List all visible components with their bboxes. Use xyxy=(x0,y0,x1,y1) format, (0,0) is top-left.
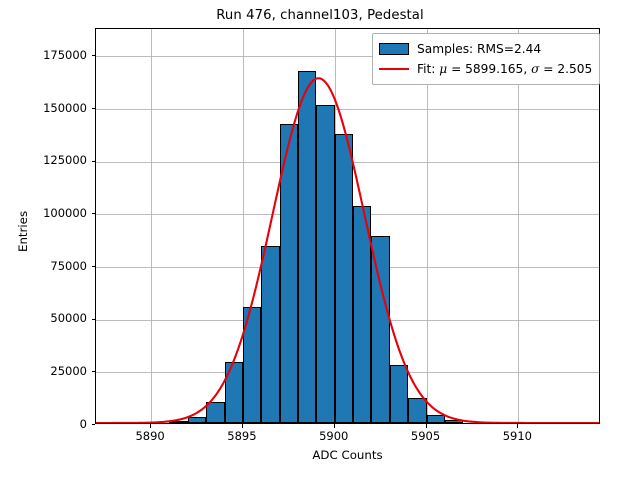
legend-mu-value: = 5899.165, xyxy=(447,62,531,76)
legend-mu-symbol: μ xyxy=(439,62,447,76)
legend-fit-prefix: Fit: xyxy=(417,62,439,76)
y-tick-label: 50000 xyxy=(15,311,87,325)
y-tick-label: 25000 xyxy=(15,364,87,378)
x-tick-mark xyxy=(426,424,427,428)
x-tick-mark xyxy=(242,424,243,428)
y-tick-mark xyxy=(92,161,96,162)
y-tick-mark xyxy=(92,266,96,267)
plot-area xyxy=(95,28,600,424)
x-axis-label: ADC Counts xyxy=(95,448,600,462)
y-tick-mark xyxy=(92,213,96,214)
y-tick-label: 0 xyxy=(15,417,87,431)
legend[interactable]: Samples: RMS=2.44 Fit: μ = 5899.165, σ =… xyxy=(372,33,600,85)
histogram-figure: Run 476, channel103, Pedestal 5890589559… xyxy=(0,0,640,480)
x-tick-label: 5900 xyxy=(299,429,369,443)
legend-entry-fit: Fit: μ = 5899.165, σ = 2.505 xyxy=(379,59,592,79)
x-tick-mark xyxy=(517,424,518,428)
y-tick-mark xyxy=(92,424,96,425)
y-tick-label: 125000 xyxy=(15,153,87,167)
x-tick-label: 5890 xyxy=(115,429,185,443)
y-tick-label: 150000 xyxy=(15,101,87,115)
x-tick-label: 5910 xyxy=(482,429,552,443)
x-tick-mark xyxy=(334,424,335,428)
y-tick-mark xyxy=(92,108,96,109)
legend-sigma-value: = 2.505 xyxy=(539,62,592,76)
gaussian-fit-curve xyxy=(96,29,599,423)
y-tick-label: 175000 xyxy=(15,48,87,62)
y-tick-mark xyxy=(92,55,96,56)
chart-title: Run 476, channel103, Pedestal xyxy=(0,8,640,23)
legend-entry-samples: Samples: RMS=2.44 xyxy=(379,39,592,59)
x-tick-label: 5905 xyxy=(391,429,461,443)
x-tick-label: 5895 xyxy=(207,429,277,443)
legend-patch-swatch-icon xyxy=(379,43,409,55)
y-tick-mark xyxy=(92,319,96,320)
legend-label-fit: Fit: μ = 5899.165, σ = 2.505 xyxy=(417,62,592,76)
y-axis-label: Entries xyxy=(16,211,30,252)
y-tick-mark xyxy=(92,371,96,372)
legend-line-swatch-icon xyxy=(379,68,409,70)
legend-label-samples: Samples: RMS=2.44 xyxy=(417,42,541,56)
y-tick-label: 75000 xyxy=(15,259,87,273)
x-tick-mark xyxy=(150,424,151,428)
